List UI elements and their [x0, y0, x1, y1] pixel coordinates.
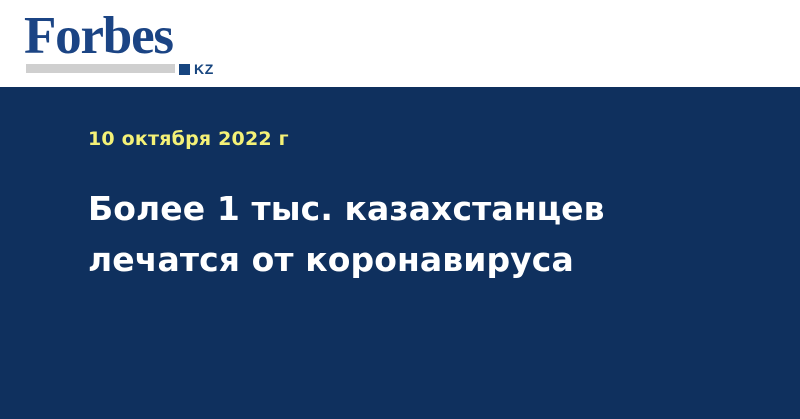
article-share-card: Forbes KZ 10 октября 2022 г Более 1 тыс.… [0, 0, 800, 419]
article-date: 10 октября 2022 г [88, 127, 289, 151]
forbes-kz-logo[interactable]: Forbes KZ [24, 12, 224, 78]
forbes-wordmark: Forbes [24, 10, 173, 63]
blue-square-icon [179, 64, 190, 75]
logo-kz-lockup: KZ [179, 62, 214, 76]
article-hero-panel: 10 октября 2022 г Более 1 тыс. казахстан… [0, 87, 800, 419]
site-header: Forbes KZ [0, 0, 800, 87]
logo-kz-label: KZ [194, 62, 214, 76]
article-headline: Более 1 тыс. казахстанцев лечатся от кор… [88, 183, 688, 285]
logo-rule-divider [26, 64, 175, 73]
